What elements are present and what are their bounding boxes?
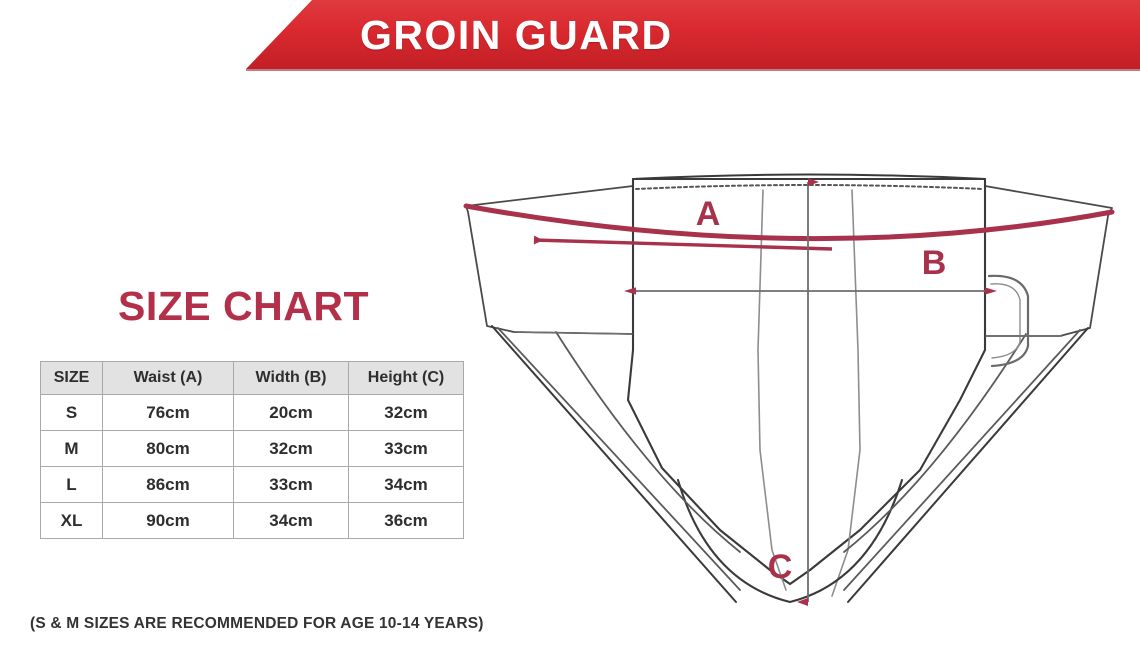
table-row: L 86cm 33cm 34cm bbox=[41, 467, 464, 503]
size-table: SIZE Waist (A) Width (B) Height (C) S 76… bbox=[40, 361, 464, 539]
groin-guard-illustration: A B C bbox=[440, 150, 1140, 650]
footnote-text: (S & M SIZES ARE RECOMMENDED FOR AGE 10-… bbox=[30, 615, 484, 633]
cell-waist: 80cm bbox=[103, 431, 234, 467]
table-row: S 76cm 20cm 32cm bbox=[41, 395, 464, 431]
cell-width: 20cm bbox=[234, 395, 349, 431]
banner-bottom-edge bbox=[246, 69, 1140, 71]
cell-width: 32cm bbox=[234, 431, 349, 467]
table-header-row: SIZE Waist (A) Width (B) Height (C) bbox=[41, 362, 464, 395]
cell-size: S bbox=[41, 395, 103, 431]
cell-width: 33cm bbox=[234, 467, 349, 503]
label-c: C bbox=[768, 548, 793, 586]
cell-size: L bbox=[41, 467, 103, 503]
product-diagram: A B C bbox=[440, 150, 1140, 650]
column-header-waist: Waist (A) bbox=[103, 362, 234, 395]
cell-waist: 76cm bbox=[103, 395, 234, 431]
cell-waist: 90cm bbox=[103, 503, 234, 539]
cell-waist: 86cm bbox=[103, 467, 234, 503]
column-header-width: Width (B) bbox=[234, 362, 349, 395]
label-b: B bbox=[922, 244, 947, 282]
size-table-container: SIZE Waist (A) Width (B) Height (C) S 76… bbox=[40, 361, 463, 539]
page-title: GROIN GUARD bbox=[360, 8, 760, 64]
cell-size: XL bbox=[41, 503, 103, 539]
right-wing-panel bbox=[985, 186, 1112, 336]
cell-size: M bbox=[41, 431, 103, 467]
table-row: XL 90cm 34cm 36cm bbox=[41, 503, 464, 539]
column-header-size: SIZE bbox=[41, 362, 103, 395]
table-row: M 80cm 32cm 33cm bbox=[41, 431, 464, 467]
cell-width: 34cm bbox=[234, 503, 349, 539]
size-chart-page: GROIN GUARD SIZE CHART SIZE Waist (A) Wi… bbox=[0, 0, 1140, 666]
size-chart-heading: SIZE CHART bbox=[118, 283, 369, 330]
label-a: A bbox=[696, 195, 721, 233]
header-banner: GROIN GUARD bbox=[0, 0, 1140, 72]
